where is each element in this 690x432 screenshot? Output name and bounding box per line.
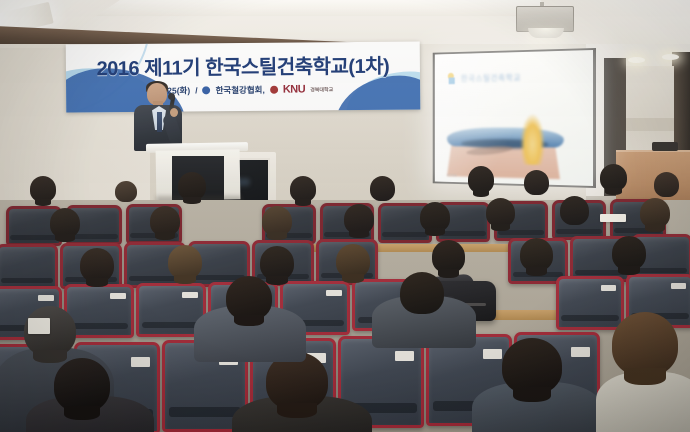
paper-sheet bbox=[28, 318, 50, 334]
kosa-logo-icon bbox=[203, 86, 211, 94]
event-banner: 2016 제11기 한국스틸건축학교(1차) .10.25(화) / 한국철강협… bbox=[66, 41, 421, 112]
audience-head bbox=[115, 181, 137, 202]
audience-head bbox=[600, 164, 627, 191]
banner-separator: / bbox=[195, 85, 197, 95]
seat bbox=[0, 244, 58, 290]
banner-title: 2016 제11기 한국스틸건축학교(1차) bbox=[66, 49, 420, 81]
knu-logo-text: KNU bbox=[283, 83, 305, 95]
slide-title: 한국스틸건축학교 bbox=[461, 72, 521, 84]
audience-head bbox=[612, 312, 678, 376]
speaker-hand bbox=[170, 108, 178, 117]
downlight-icon bbox=[662, 54, 679, 60]
knu-crest-icon bbox=[270, 86, 278, 94]
audience-head bbox=[370, 176, 395, 201]
counter-object bbox=[652, 142, 678, 151]
audience-head bbox=[468, 166, 494, 193]
audience-head bbox=[524, 170, 549, 195]
knu-university-name: 경북대학교 bbox=[310, 86, 333, 93]
projector-lens bbox=[528, 28, 564, 38]
paper-sheet bbox=[600, 214, 626, 222]
audience-head bbox=[344, 204, 374, 234]
audience-head bbox=[168, 245, 202, 279]
slide-footer: KOSA bbox=[447, 172, 457, 177]
projection-screen: 한국스틸건축학교 KOSA bbox=[435, 50, 593, 186]
audience-head bbox=[260, 246, 294, 280]
audience-head bbox=[226, 276, 272, 320]
lecture-hall-photo: 한국스틸건축학교 KOSA 2016 제11기 한국스틸건축학교(1차) .10… bbox=[0, 0, 690, 432]
audience-head bbox=[502, 338, 562, 394]
audience-head bbox=[262, 206, 292, 236]
banner-organizer: 한국철강협회, bbox=[215, 84, 264, 96]
audience-head bbox=[54, 358, 110, 412]
audience-head bbox=[178, 172, 206, 200]
speaker-tie bbox=[157, 112, 162, 132]
audience-head bbox=[654, 172, 679, 197]
slide-logo-icon bbox=[447, 73, 457, 84]
microphone-head-icon bbox=[168, 93, 175, 100]
audience-head bbox=[640, 198, 670, 228]
audience-head bbox=[420, 202, 450, 232]
audience-head bbox=[80, 248, 114, 282]
right-wall-stripe bbox=[626, 118, 674, 131]
audience-head bbox=[30, 176, 56, 202]
audience-head bbox=[50, 208, 80, 238]
audience-head bbox=[486, 198, 515, 227]
audience-head bbox=[612, 236, 646, 270]
audience-head bbox=[290, 176, 316, 202]
audience-head bbox=[432, 240, 465, 273]
audience-head bbox=[560, 196, 589, 225]
audience-head bbox=[520, 238, 553, 271]
audience-head bbox=[150, 206, 180, 236]
audience-head bbox=[336, 244, 370, 278]
downlight-icon bbox=[628, 57, 645, 63]
audience-head bbox=[400, 272, 444, 314]
